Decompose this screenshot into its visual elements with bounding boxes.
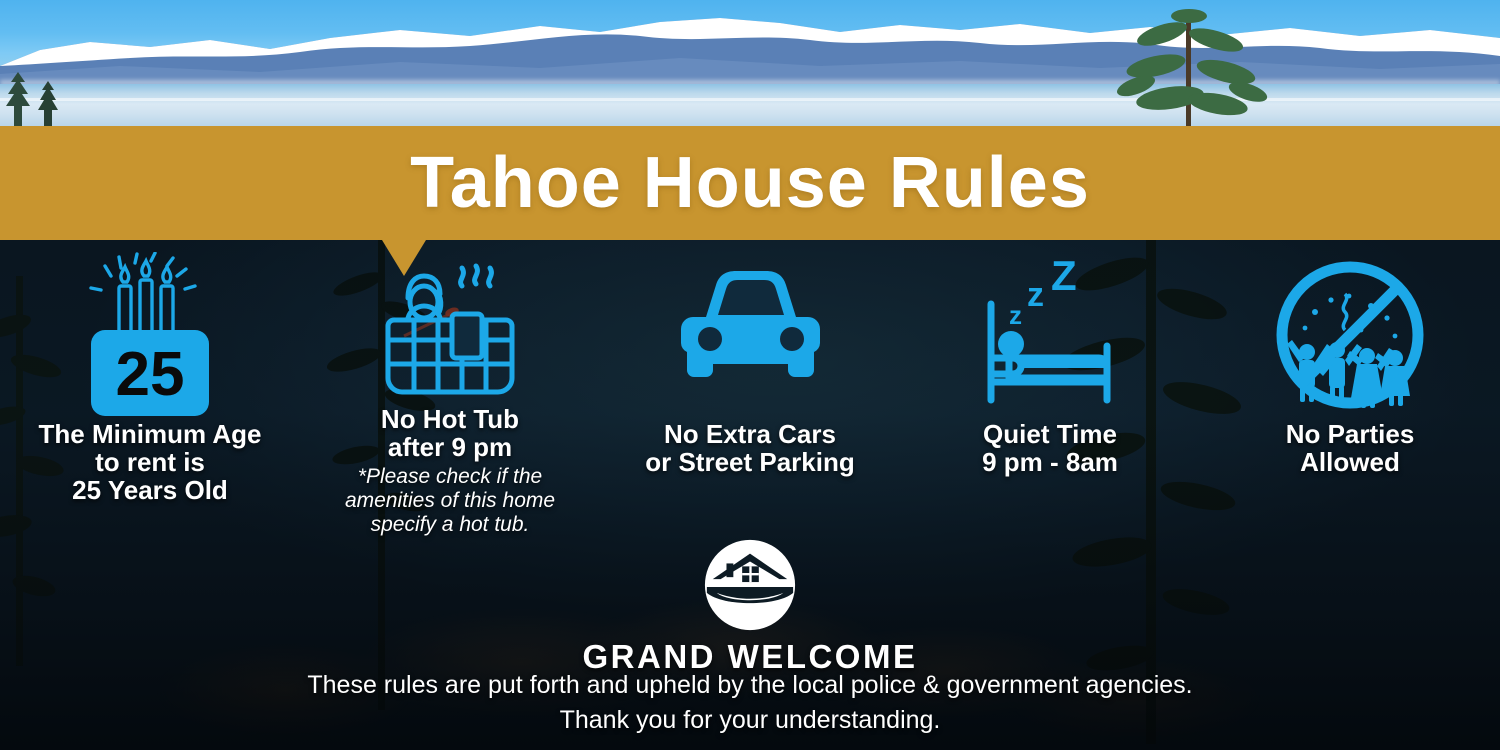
bed-sleep-icon: z z Z [975,252,1125,417]
rule-note: *Please check if the amenities of this h… [345,465,555,537]
hot-tub-icon [378,252,523,402]
page-title: Tahoe House Rules [410,147,1090,219]
footer-line-1: These rules are put forth and upheld by … [0,668,1500,703]
car-icon [668,252,833,417]
birthday-cake-25-icon: 25 [85,252,215,417]
hero-photo [0,0,1500,126]
rule-label: Quiet Time 9 pm - 8am [982,421,1118,477]
rule-item-no-hot-tub: No Hot Tub after 9 pm *Please check if t… [300,252,600,522]
pine-tree-right-icon [1090,0,1290,126]
title-banner: Tahoe House Rules [0,126,1500,240]
svg-text:Z: Z [1051,260,1077,299]
grand-welcome-house-circle-logo [701,536,799,634]
house-rules-list: 25 The Minimum Age to rent is 25 Years O… [0,252,1500,522]
footer-disclaimer: These rules are put forth and upheld by … [0,668,1500,737]
rule-label: No Extra Cars or Street Parking [645,421,855,477]
rule-label: The Minimum Age to rent is 25 Years Old [39,421,262,504]
svg-text:z: z [1009,300,1022,330]
pine-tree-left-icon [0,70,70,126]
no-parties-icon [1275,252,1425,417]
rule-label: No Parties Allowed [1286,421,1415,477]
svg-text:z: z [1027,276,1044,314]
rule-item-quiet-time: z z Z Quiet Time 9 pm - 8am [900,252,1200,522]
footer-line-2: Thank you for your understanding. [0,703,1500,738]
rule-item-minimum-age: 25 The Minimum Age to rent is 25 Years O… [0,252,300,522]
rule-label: No Hot Tub after 9 pm [381,406,519,462]
rule-item-no-extra-cars: No Extra Cars or Street Parking [600,252,900,522]
brand-logo: GRAND WELCOME [0,536,1500,676]
rule-item-no-parties: No Parties Allowed [1200,252,1500,522]
minimum-age-number: 25 [116,340,185,409]
